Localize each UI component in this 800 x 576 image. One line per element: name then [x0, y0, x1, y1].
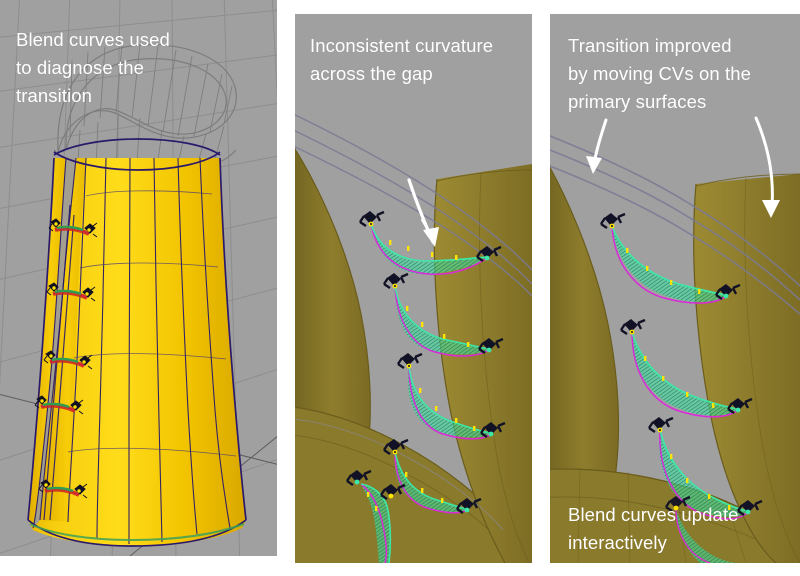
scene-2 [295, 14, 532, 563]
diagnose-panel[interactable]: Blend curves used to diagnose the transi… [0, 0, 277, 556]
scene-1 [0, 0, 277, 556]
viewport-2[interactable]: Inconsistent curvature across the gap [295, 14, 532, 563]
scene-3 [550, 14, 800, 563]
improved-transition-panel[interactable]: Transition improved by moving CVs on the… [550, 14, 800, 563]
inconsistent-curvature-panel[interactable]: Inconsistent curvature across the gap [295, 14, 532, 563]
slide-canvas: Blend curves used to diagnose the transi… [0, 0, 800, 576]
viewport-1[interactable]: Blend curves used to diagnose the transi… [0, 0, 277, 556]
viewport-3[interactable]: Transition improved by moving CVs on the… [550, 14, 800, 563]
